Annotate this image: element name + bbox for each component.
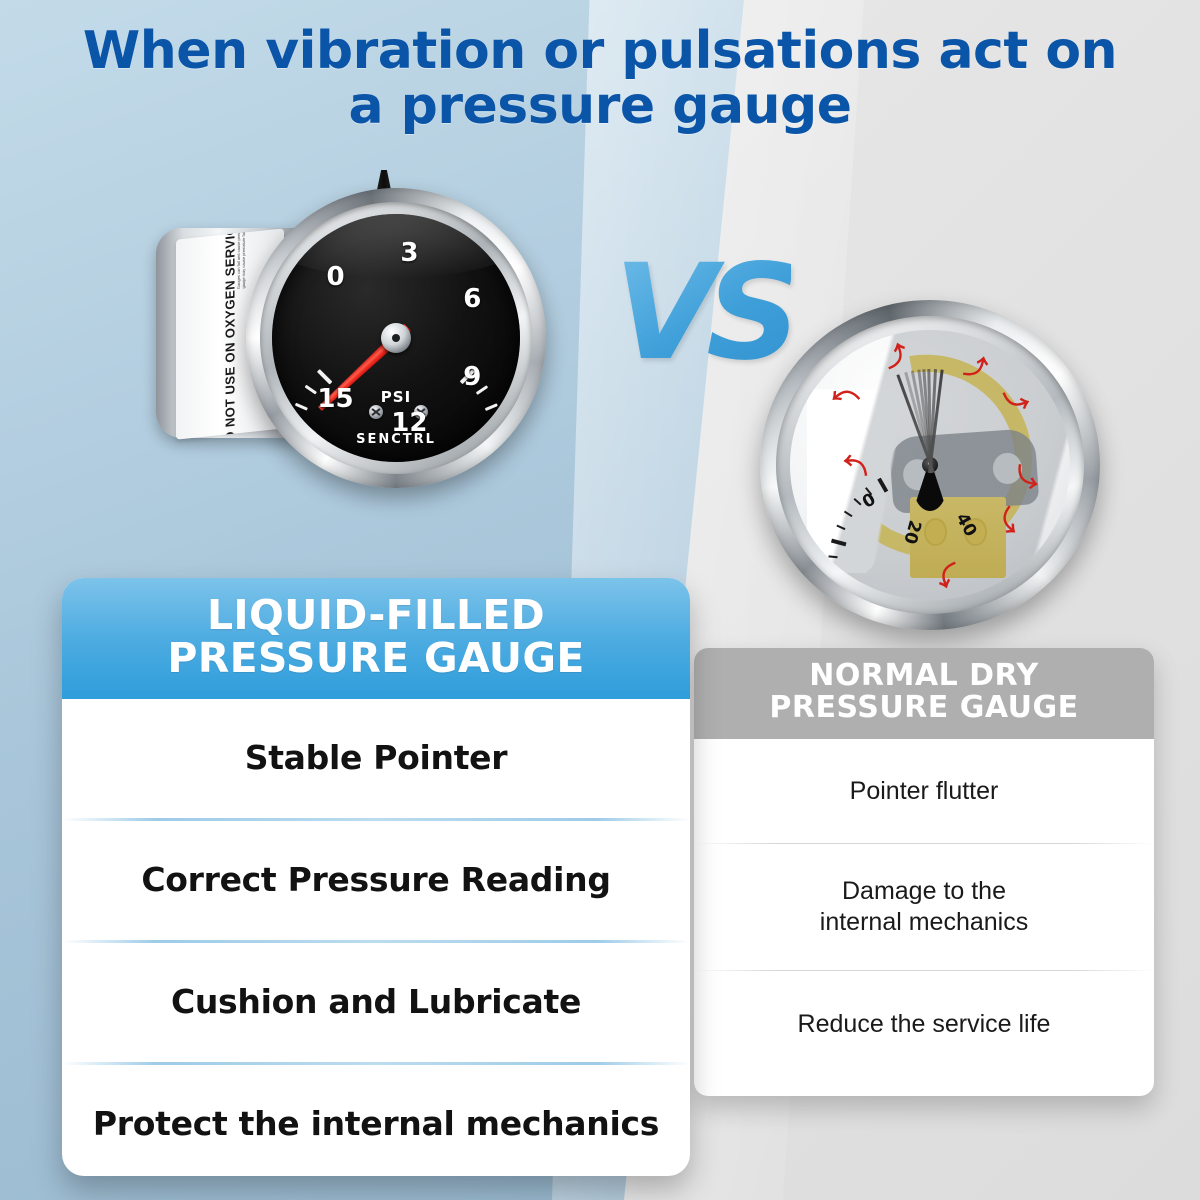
gauge-dial: PSI SENCTRL 03691215 — [272, 214, 520, 462]
page-title-line-2: a pressure gauge — [0, 79, 1200, 134]
dry-gauge-card-rows: Pointer flutter Damage to the internal m… — [694, 739, 1154, 1077]
liquid-gauge-card-header-line-1: LIQUID-FILLED — [76, 594, 676, 637]
liquid-filled-gauge-image: Gauges can fail and cause personal injur… — [150, 170, 540, 500]
liquid-gauge-card-header: LIQUID-FILLED PRESSURE GAUGE — [62, 578, 690, 699]
list-item: Damage to the internal mechanics — [694, 844, 1154, 970]
gauge-bezel: PSI SENCTRL 03691215 — [246, 188, 546, 488]
gauge-screw-left — [369, 405, 383, 419]
vs-badge: VS — [614, 236, 791, 390]
dry-gauge-damage-mark: ⤴ — [845, 453, 870, 478]
dry-gauge-card-header-line-1: NORMAL DRY — [704, 660, 1144, 692]
list-item: Pointer flutter — [694, 739, 1154, 843]
liquid-gauge-card-header-line-2: PRESSURE GAUGE — [76, 637, 676, 680]
list-item: Cushion and Lubricate — [62, 943, 690, 1062]
liquid-gauge-card-rows: Stable Pointer Correct Pressure Reading … — [62, 699, 690, 1176]
dry-gauge-damage-mark: ⤴ — [1012, 463, 1039, 490]
dial-number: 6 — [463, 284, 481, 314]
liquid-gauge-card: LIQUID-FILLED PRESSURE GAUGE Stable Poin… — [62, 578, 690, 1176]
dry-gauge-card-header-line-2: PRESSURE GAUGE — [704, 692, 1144, 724]
list-item: Reduce the service life — [694, 971, 1154, 1077]
list-item: Stable Pointer — [62, 699, 690, 818]
dial-number: 3 — [400, 238, 418, 268]
list-item: Correct Pressure Reading — [62, 821, 690, 940]
dry-gauge-damage-mark: ⤴ — [961, 355, 988, 382]
dry-gauge-card: NORMAL DRY PRESSURE GAUGE Pointer flutte… — [694, 648, 1154, 1096]
dial-number: 0 — [326, 262, 344, 292]
dry-gauge-image: 02040⤴⤴⤴⤴⤴⤴⤴⤴ — [760, 300, 1100, 630]
gauge-hub — [381, 323, 411, 353]
dry-gauge-dial: 02040⤴⤴⤴⤴⤴⤴⤴⤴ — [790, 330, 1070, 600]
gauge-warning-text: DO NOT USE ON OXYGEN SERVICE — [223, 228, 238, 439]
gauge-glare — [272, 214, 520, 278]
list-item: Protect the internal mechanics — [62, 1065, 690, 1176]
page-title-line-1: When vibration or pulsations act on — [83, 21, 1117, 81]
gauge-unit-label: PSI — [381, 388, 411, 406]
page-title: When vibration or pulsations act on a pr… — [0, 24, 1200, 133]
dial-number: 15 — [317, 384, 353, 414]
dial-number: 9 — [463, 362, 481, 392]
dry-gauge-card-header: NORMAL DRY PRESSURE GAUGE — [694, 648, 1154, 739]
dial-number: 12 — [391, 408, 427, 438]
dry-gauge-bezel: 02040⤴⤴⤴⤴⤴⤴⤴⤴ — [760, 300, 1100, 630]
